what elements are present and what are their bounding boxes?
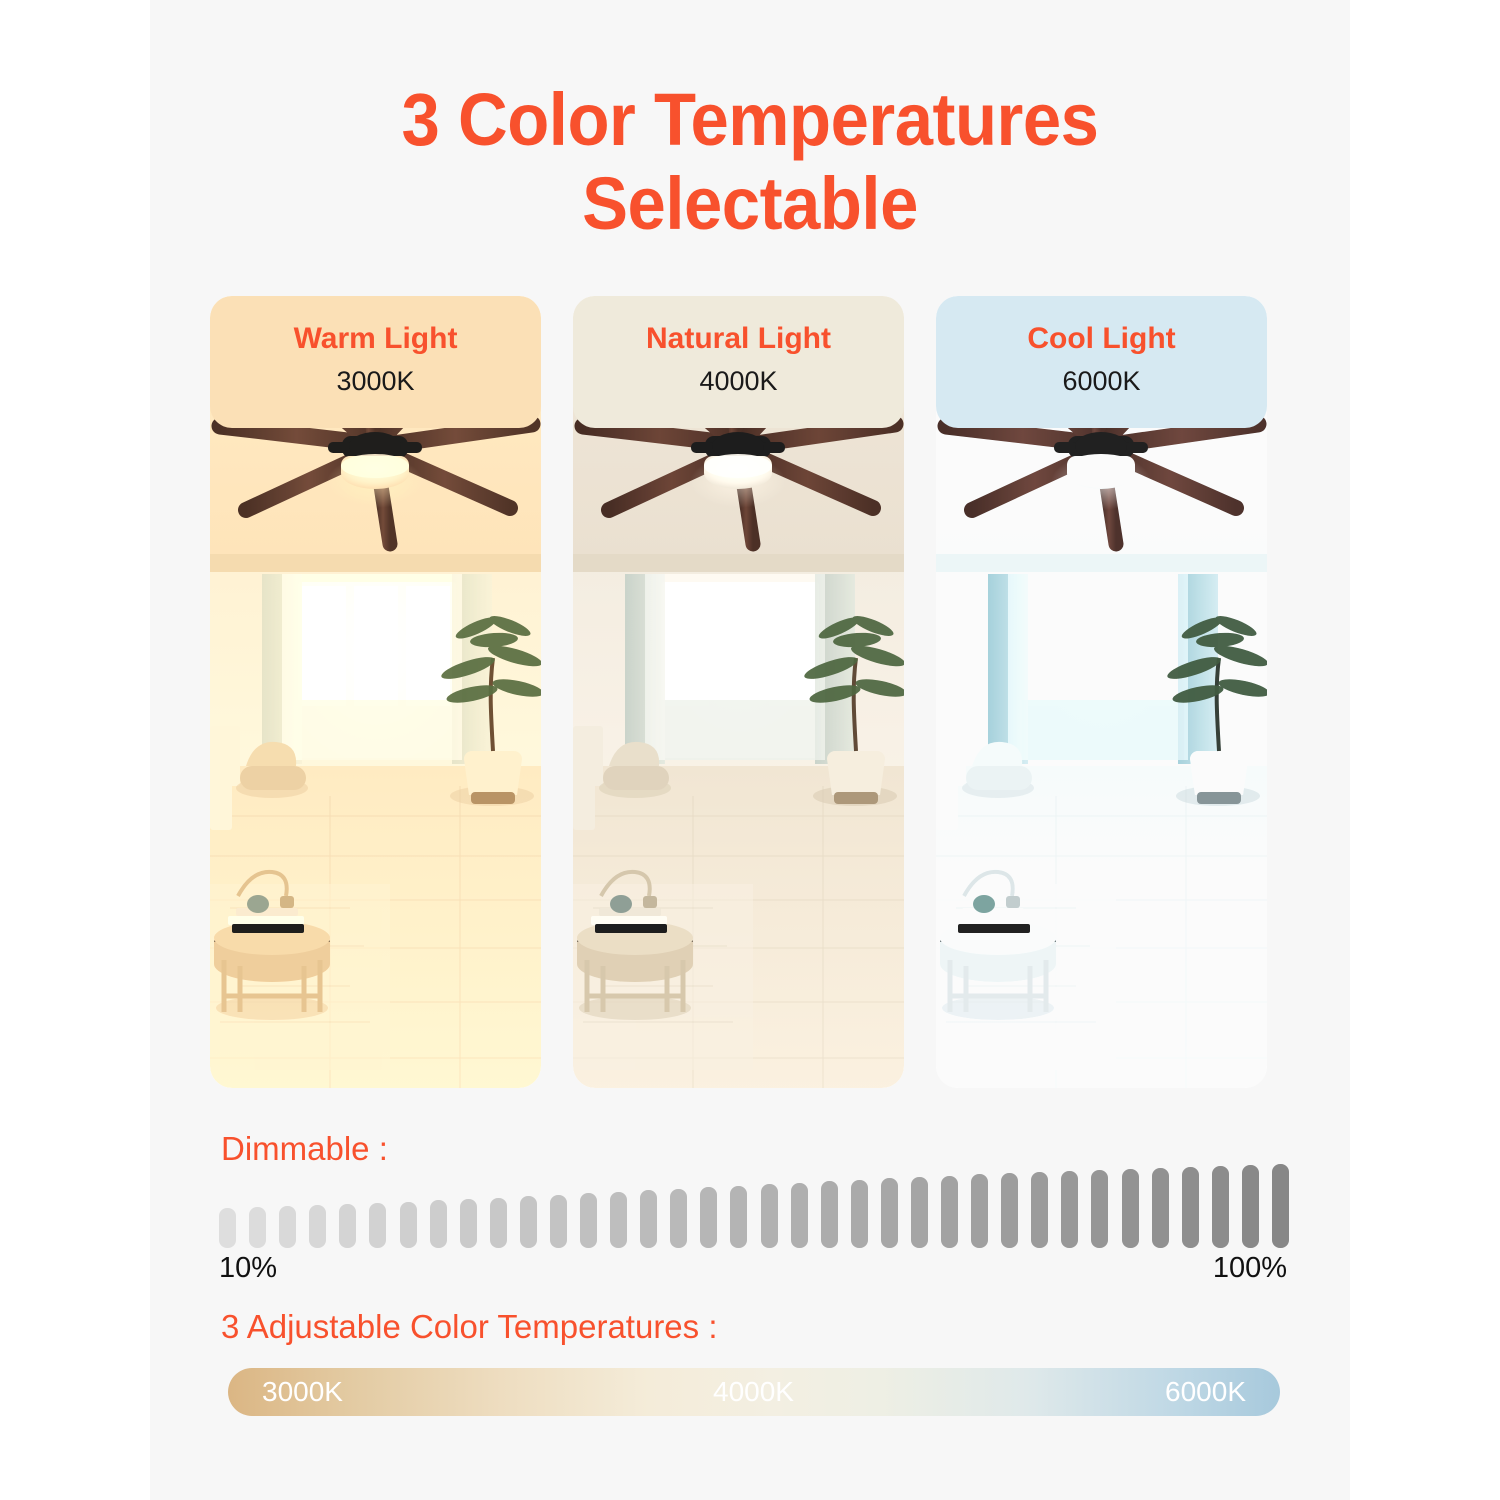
dimmable-bar[interactable] [249, 1207, 266, 1248]
dimmable-bar[interactable] [1212, 1166, 1229, 1248]
card-title-natural: Natural Light [573, 322, 904, 356]
dimmable-bar[interactable] [851, 1180, 868, 1248]
dimmable-max-label: 100% [1213, 1252, 1287, 1285]
dimmable-bar[interactable] [430, 1200, 447, 1248]
card-kelvin-natural: 4000K [573, 366, 904, 397]
dimmable-bar[interactable] [520, 1196, 537, 1248]
card-header-natural: Natural Light 4000K [573, 296, 904, 428]
dimmable-bar[interactable] [821, 1181, 838, 1248]
dimmable-bar-chart[interactable] [219, 1160, 1289, 1248]
dimmable-bar[interactable] [1272, 1164, 1289, 1248]
dimmable-bar[interactable] [309, 1205, 326, 1248]
cct-tick-4000k: 4000K [713, 1368, 794, 1416]
color-temperature-card-cool[interactable]: Cool Light 6000K [936, 296, 1267, 1088]
card-title-cool: Cool Light [936, 322, 1267, 356]
dimmable-bar[interactable] [881, 1178, 898, 1248]
card-header-warm: Warm Light 3000K [210, 296, 541, 428]
dimmable-bar[interactable] [941, 1176, 958, 1248]
color-temperature-gradient-bar[interactable]: 3000K 4000K 6000K [228, 1368, 1280, 1416]
dimmable-bar[interactable] [550, 1195, 567, 1248]
dimmable-bar[interactable] [1152, 1168, 1169, 1248]
dimmable-bar[interactable] [400, 1202, 417, 1248]
dimmable-bar[interactable] [279, 1206, 296, 1248]
dimmable-bar[interactable] [460, 1199, 477, 1248]
cct-tick-6000k: 6000K [1165, 1368, 1246, 1416]
dimmable-min-label: 10% [219, 1252, 277, 1285]
dimmable-bar[interactable] [339, 1204, 356, 1248]
card-kelvin-cool: 6000K [936, 366, 1267, 397]
dimmable-bar[interactable] [1061, 1171, 1078, 1248]
color-temperature-card-natural[interactable]: Natural Light 4000K [573, 296, 904, 1088]
dimmable-bar[interactable] [490, 1198, 507, 1248]
dimmable-bar[interactable] [761, 1184, 778, 1248]
dimmable-bar[interactable] [791, 1183, 808, 1248]
dimmable-bar[interactable] [1031, 1172, 1048, 1248]
cct-tick-3000k: 3000K [262, 1368, 343, 1416]
dimmable-bar[interactable] [1091, 1170, 1108, 1248]
dimmable-bar[interactable] [1242, 1165, 1259, 1248]
page-title: 3 Color Temperatures Selectable [192, 78, 1308, 245]
dimmable-bar[interactable] [670, 1189, 687, 1248]
dimmable-bar[interactable] [369, 1203, 386, 1248]
dimmable-bar[interactable] [1001, 1173, 1018, 1248]
page-title-line2: Selectable [192, 162, 1308, 246]
color-temperature-label: 3 Adjustable Color Temperatures : [221, 1308, 718, 1346]
dimmable-bar[interactable] [219, 1208, 236, 1248]
card-header-cool: Cool Light 6000K [936, 296, 1267, 428]
dimmable-bar[interactable] [610, 1192, 627, 1248]
infographic-page: 3 Color Temperatures Selectable [0, 0, 1500, 1500]
dimmable-bar[interactable] [640, 1190, 657, 1248]
dimmable-bar[interactable] [580, 1193, 597, 1248]
dimmable-bar[interactable] [700, 1187, 717, 1248]
dimmable-bar[interactable] [971, 1174, 988, 1248]
dimmable-bar[interactable] [1122, 1169, 1139, 1248]
color-temperature-card-warm[interactable]: Warm Light 3000K [210, 296, 541, 1088]
dimmable-bar[interactable] [911, 1177, 928, 1248]
dimmable-bar[interactable] [730, 1186, 747, 1248]
card-title-warm: Warm Light [210, 322, 541, 356]
dimmable-bar[interactable] [1182, 1167, 1199, 1248]
card-kelvin-warm: 3000K [210, 366, 541, 397]
page-title-line1: 3 Color Temperatures [402, 78, 1099, 161]
